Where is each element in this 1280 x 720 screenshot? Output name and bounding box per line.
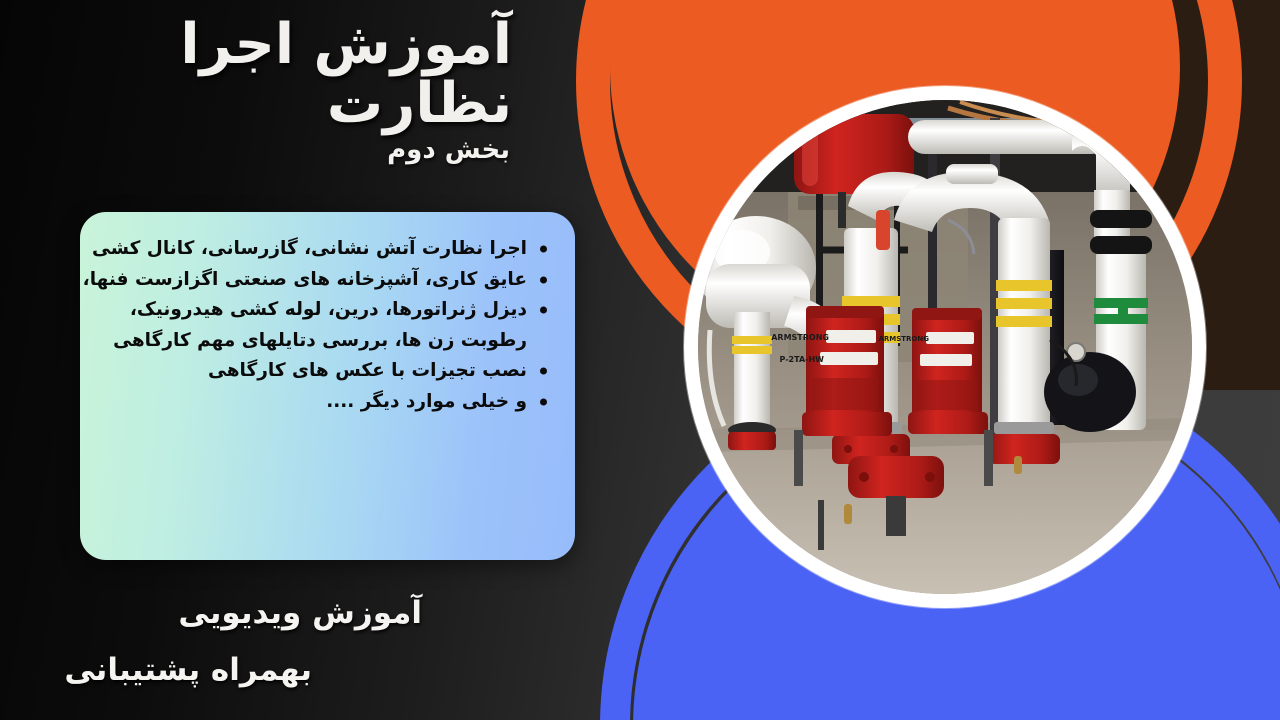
photo-circle-frame: ARMSTRONG P-2TA-HW ARMSTRONG	[684, 86, 1206, 608]
photo-illustration: ARMSTRONG P-2TA-HW ARMSTRONG	[698, 100, 1192, 594]
mechanical-room-photo: ARMSTRONG P-2TA-HW ARMSTRONG	[698, 100, 1192, 594]
page-title: آموزش اجرا نظارت	[0, 16, 556, 134]
footer-line-1: آموزش ویدیویی	[0, 595, 440, 631]
svg-text:ARMSTRONG: ARMSTRONG	[878, 335, 929, 343]
svg-text:ARMSTRONG: ARMSTRONG	[771, 333, 829, 342]
feature-list: اجرا نظارت آتش نشانی، گازرسانی، کانال کش…	[102, 240, 549, 411]
list-item: دیزل ژنراتورها، درین، لوله کشی هیدرونیک،	[102, 301, 549, 320]
feature-card: اجرا نظارت آتش نشانی، گازرسانی، کانال کش…	[80, 212, 575, 560]
svg-text:P-2TA-HW: P-2TA-HW	[780, 355, 825, 364]
list-item: نصب تجیزات با عکس های کارگاهی	[102, 362, 549, 381]
list-item: عایق کاری، آشپزخانه های صنعتی اگزازست فن…	[102, 271, 549, 290]
list-item-continuation: رطوبت زن ها، بررسی دتایلهای مهم کارگاهی	[102, 332, 549, 351]
page-subtitle: بخش دوم	[0, 135, 556, 165]
list-item: و خیلی موارد دیگر ....	[102, 393, 549, 412]
list-item: اجرا نظارت آتش نشانی، گازرسانی، کانال کش…	[102, 240, 549, 259]
footer-line-2: بهمراه پشتیبانی	[0, 652, 330, 688]
slide-canvas: ARMSTRONG P-2TA-HW ARMSTRONG	[0, 0, 1280, 720]
